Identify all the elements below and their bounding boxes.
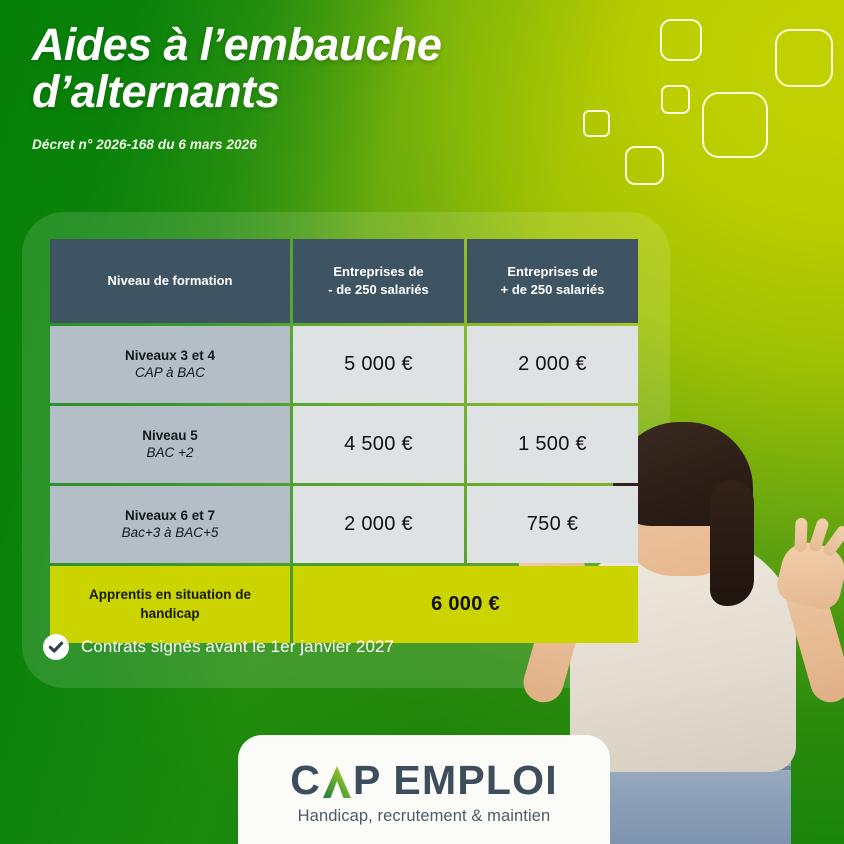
decorative-square [583, 110, 610, 137]
table-row: Niveau 5 BAC +2 4 500 € 1 500 € [50, 406, 638, 483]
logo-wordmark: C P EMPLOI [290, 760, 558, 801]
footer-note-text: Contrats signés avant le 1er janvier 202… [81, 637, 394, 657]
cell-amount-small: 5 000 € [293, 326, 464, 403]
decorative-square [775, 29, 833, 87]
level-subtitle: Bac+3 à BAC+5 [51, 524, 289, 542]
cell-amount-large: 750 € [467, 486, 638, 563]
logo-text-emploi: P EMPLOI [353, 760, 558, 801]
table-row: Niveaux 3 et 4 CAP à BAC 5 000 € 2 000 € [50, 326, 638, 403]
check-circle-icon [43, 634, 69, 660]
person-hair-side [710, 480, 754, 606]
decree-subtitle: Décret n° 2026-168 du 6 mars 2026 [32, 137, 572, 152]
level-title: Niveaux 6 et 7 [51, 507, 289, 525]
cell-level: Niveau 5 BAC +2 [50, 406, 290, 483]
cell-amount-small: 2 000 € [293, 486, 464, 563]
column-header-small-company: Entreprises de - de 250 salariés [293, 239, 464, 323]
decorative-square [661, 85, 690, 114]
cell-amount-large: 1 500 € [467, 406, 638, 483]
decorative-square [660, 19, 702, 61]
level-subtitle: CAP à BAC [51, 364, 289, 382]
column-header-large-company: Entreprises de + de 250 salariés [467, 239, 638, 323]
level-title: Niveaux 3 et 4 [51, 347, 289, 365]
cell-amount-large: 2 000 € [467, 326, 638, 403]
table-row-handicap: Apprentis en situation de handicap 6 000… [50, 566, 638, 643]
level-subtitle: BAC +2 [51, 444, 289, 462]
logo-text-c: C [290, 760, 321, 801]
poster-canvas: Aides à l’embauche d’alternants Décret n… [0, 0, 844, 844]
person-finger [794, 518, 807, 552]
footer-note: Contrats signés avant le 1er janvier 202… [43, 634, 394, 660]
aid-table-wrapper: Niveau de formation Entreprises de - de … [47, 236, 641, 646]
cell-handicap-amount: 6 000 € [293, 566, 638, 643]
cell-amount-small: 4 500 € [293, 406, 464, 483]
table-row: Niveaux 6 et 7 Bac+3 à BAC+5 2 000 € 750… [50, 486, 638, 563]
header-block: Aides à l’embauche d’alternants Décret n… [32, 22, 572, 152]
cell-handicap-label: Apprentis en situation de handicap [50, 566, 290, 643]
column-header-level: Niveau de formation [50, 239, 290, 323]
cell-level: Niveaux 3 et 4 CAP à BAC [50, 326, 290, 403]
decorative-square [702, 92, 768, 158]
decorative-square [625, 146, 664, 185]
level-title: Niveau 5 [51, 427, 289, 445]
page-title: Aides à l’embauche d’alternants [32, 22, 572, 116]
logo-tagline: Handicap, recrutement & maintien [298, 807, 551, 826]
logo-a-triangle-icon [322, 763, 352, 797]
cell-level: Niveaux 6 et 7 Bac+3 à BAC+5 [50, 486, 290, 563]
aid-amounts-table: Niveau de formation Entreprises de - de … [47, 236, 641, 646]
table-header-row: Niveau de formation Entreprises de - de … [50, 239, 638, 323]
logo-card: C P EMPLOI Handicap, recrutement & maint… [238, 735, 610, 844]
